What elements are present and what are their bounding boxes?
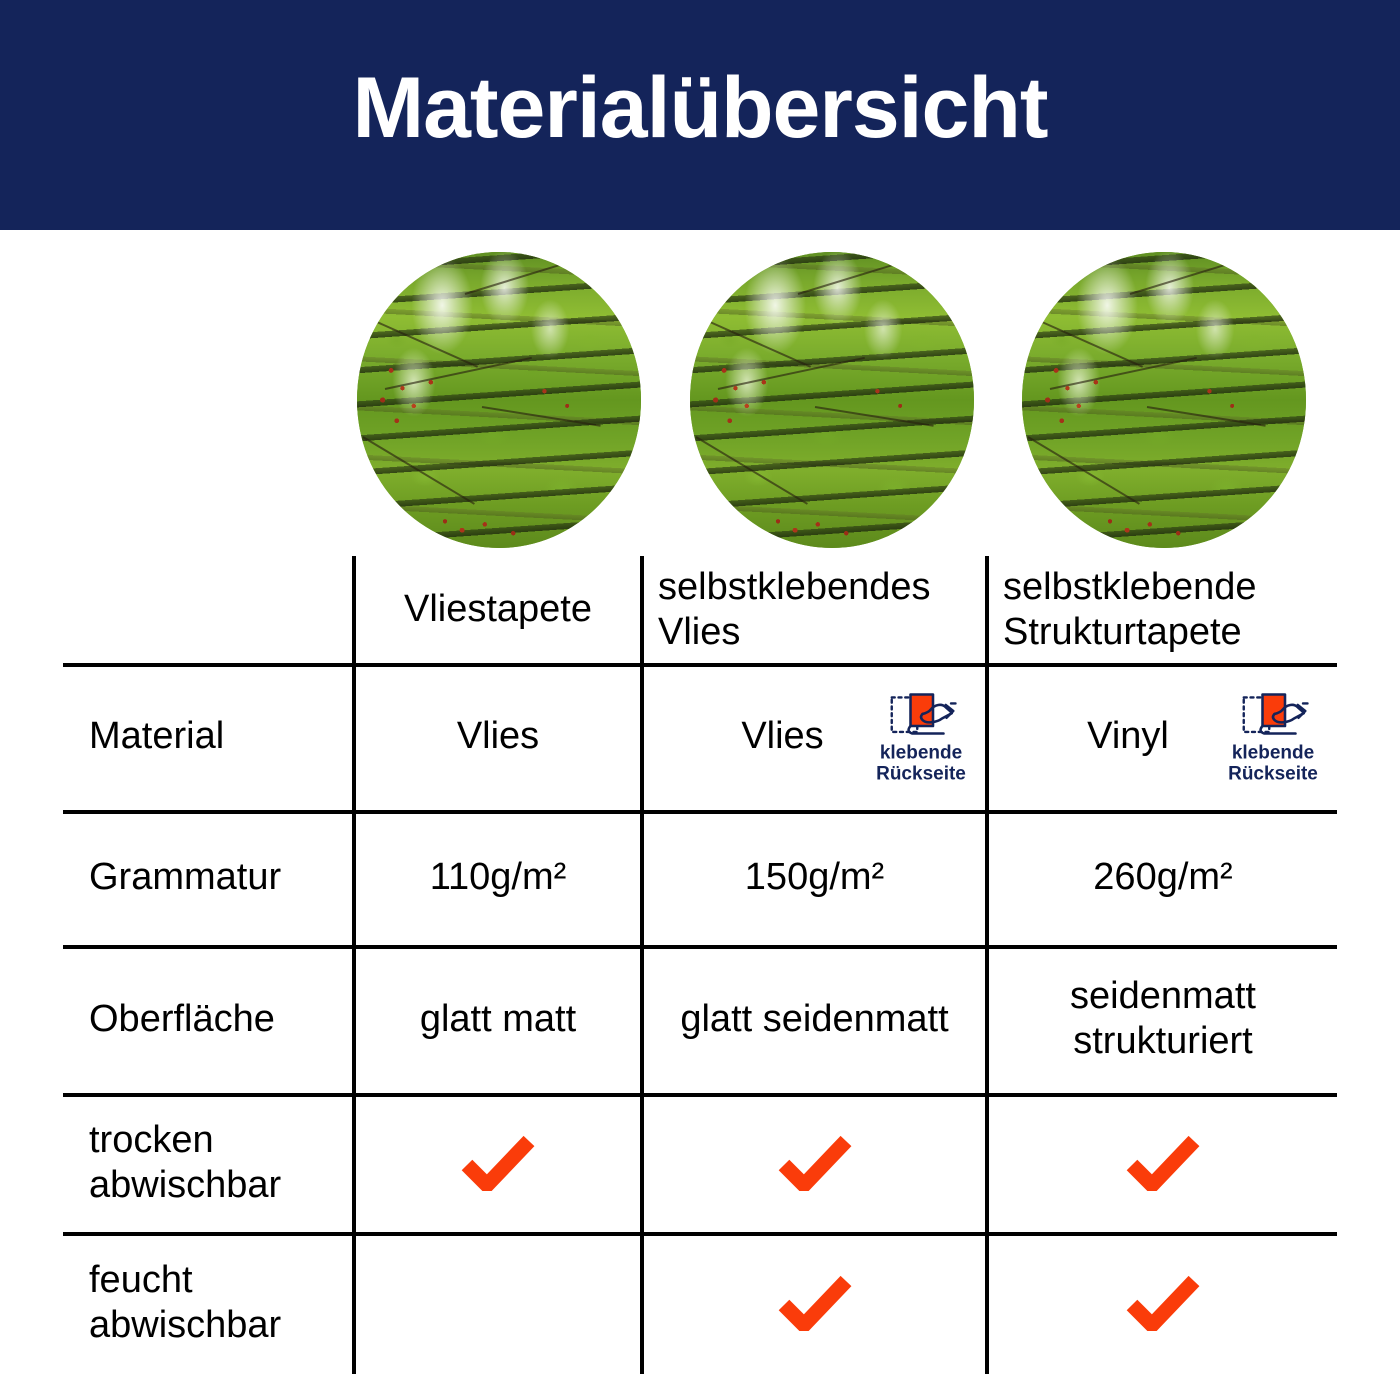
adhesive-backing-icon — [1237, 688, 1309, 742]
cell-feucht-selbstklebende-strukturtapete — [989, 1232, 1337, 1374]
cell-oberflaeche-selbstklebende-strukturtapete: seidenmatt strukturiert — [989, 945, 1337, 1093]
checkmark-icon — [1126, 1135, 1200, 1191]
cell-feucht-selbstklebendes-vlies — [644, 1232, 985, 1374]
cell-value: Vlies — [741, 714, 823, 759]
cell-trocken-selbstklebende-strukturtapete — [989, 1093, 1337, 1232]
checkmark-icon — [778, 1275, 852, 1331]
row-label-feucht-abwischbar: feucht abwischbar — [63, 1232, 352, 1374]
forest-image — [1022, 252, 1306, 548]
cell-feucht-vliestapete — [356, 1232, 640, 1374]
row-label-grammatur: Grammatur — [63, 810, 352, 945]
cell-oberflaeche-selbstklebendes-vlies: glatt seidenmatt — [644, 945, 985, 1093]
row-label-oberflaeche: Oberfläche — [63, 945, 352, 1093]
forest-image — [357, 252, 641, 548]
cell-trocken-selbstklebendes-vlies — [644, 1093, 985, 1232]
page-title: Materialübersicht — [0, 0, 1400, 230]
thumbnail-selbstklebende-strukturtapete — [1022, 252, 1306, 548]
badge-line-2: Rückseite — [876, 765, 966, 786]
badge-line-2: Rückseite — [1228, 765, 1318, 786]
column-header-vliestapete: Vliestapete — [356, 556, 640, 663]
thumbnail-row — [0, 252, 1400, 552]
thumbnail-selbstklebendes-vlies — [690, 252, 974, 548]
cell-material-vliestapete: Vlies — [356, 663, 640, 810]
cell-material-selbstklebendes-vlies: Vlies klebende Rückseite — [644, 663, 985, 810]
adhesive-backing-icon — [885, 688, 957, 742]
column-header-selbstklebende-strukturtapete: selbstklebende Strukturtapete — [989, 556, 1337, 663]
row-label-material: Material — [63, 663, 352, 810]
badge-line-1: klebende — [880, 743, 962, 764]
row-label-trocken-abwischbar: trocken abwischbar — [63, 1093, 352, 1232]
forest-image — [690, 252, 974, 548]
column-header-selbstklebendes-vlies: selbstklebendes Vlies — [644, 556, 985, 663]
header-band: Materialübersicht — [0, 0, 1400, 230]
badge-line-1: klebende — [1232, 743, 1314, 764]
cell-grammatur-selbstklebendes-vlies: 150g/m² — [644, 810, 985, 945]
thumbnail-vliestapete — [357, 252, 641, 548]
cell-value: Vinyl — [1087, 714, 1169, 759]
checkmark-icon — [778, 1135, 852, 1191]
material-comparison-table: Vliestapete selbstklebendes Vlies selbst… — [63, 556, 1337, 1378]
checkmark-icon — [461, 1135, 535, 1191]
checkmark-icon — [1126, 1275, 1200, 1331]
cell-grammatur-selbstklebende-strukturtapete: 260g/m² — [989, 810, 1337, 945]
adhesive-backing-badge: klebende Rückseite — [863, 688, 979, 785]
material-overview-page: Materialübersicht — [0, 0, 1400, 1400]
cell-value: Vlies — [457, 714, 539, 759]
cell-material-selbstklebende-strukturtapete: Vinyl klebende Rückseite — [989, 663, 1337, 810]
cell-trocken-vliestapete — [356, 1093, 640, 1232]
cell-grammatur-vliestapete: 110g/m² — [356, 810, 640, 945]
adhesive-backing-badge: klebende Rückseite — [1215, 688, 1331, 785]
cell-oberflaeche-vliestapete: glatt matt — [356, 945, 640, 1093]
